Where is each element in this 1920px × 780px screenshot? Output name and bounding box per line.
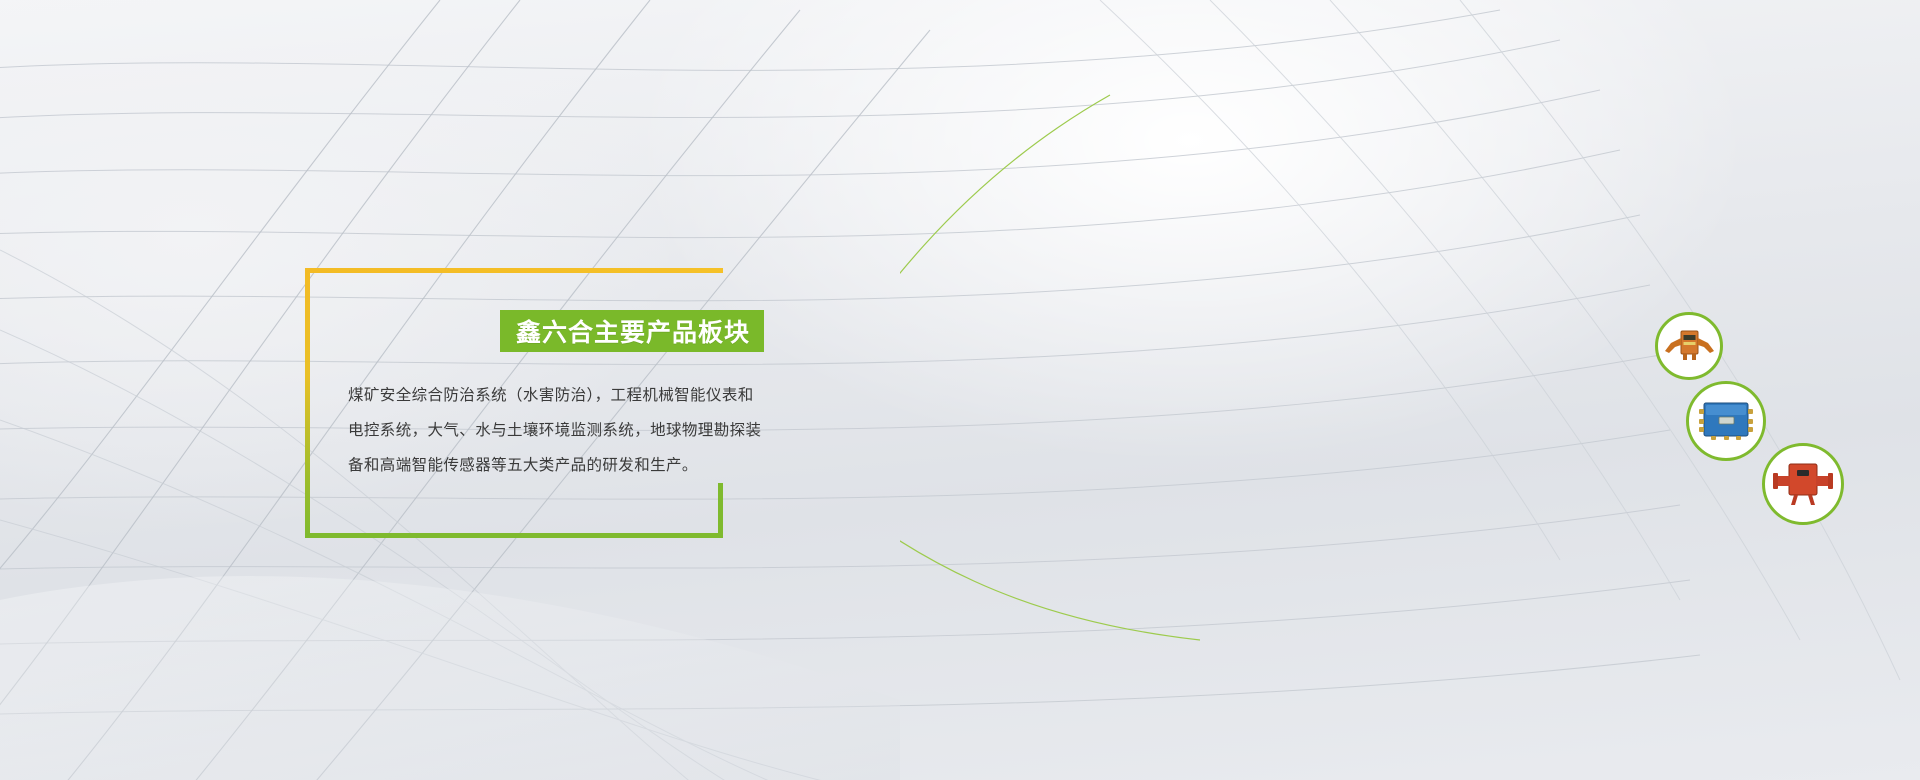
frame-border-bottom	[305, 533, 723, 538]
page-title: 鑫六合主要产品板块	[516, 313, 750, 349]
frame-border-top	[305, 268, 723, 273]
red-flanged-device-icon	[1769, 459, 1837, 509]
description-line-3: 备和高端智能传感器等五大类产品的研发和生产。	[348, 448, 768, 483]
bubble-orange-clamp-device[interactable]	[1655, 312, 1723, 380]
frame-border-left	[305, 268, 310, 538]
frame-border-right	[718, 483, 723, 538]
orange-clamp-device-icon	[1662, 326, 1716, 366]
hero-connector-lines	[900, 0, 1920, 780]
section-description: 煤矿安全综合防治系统（水害防治），工程机械智能仪表和 电控系统，大气、水与土壤环…	[348, 378, 768, 483]
blue-junction-box-icon	[1695, 397, 1757, 445]
description-line-2: 电控系统，大气、水与土壤环境监测系统，地球物理勘探装	[348, 413, 768, 448]
description-line-1: 煤矿安全综合防治系统（水害防治），工程机械智能仪表和	[348, 378, 768, 413]
bubble-red-flanged-device[interactable]	[1762, 443, 1844, 525]
section-title-banner: 鑫六合主要产品板块	[500, 310, 764, 352]
hero-graphic: 监测主机 e	[900, 0, 1920, 780]
bubble-blue-junction-box[interactable]	[1686, 381, 1766, 461]
